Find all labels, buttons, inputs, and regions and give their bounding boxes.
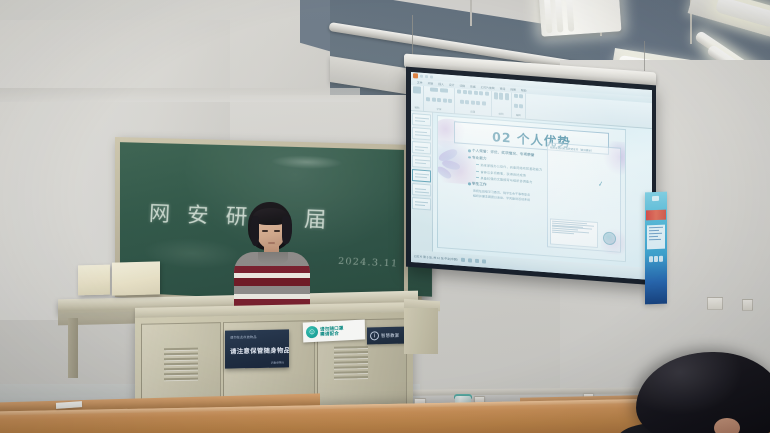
presenter-eye-right xyxy=(274,230,280,232)
slide-thumbnail[interactable] xyxy=(412,127,431,140)
light-tube xyxy=(566,0,575,32)
pipe-hanger xyxy=(470,0,472,26)
ribbon-tab[interactable]: 插入 xyxy=(438,82,444,86)
official-seal-icon xyxy=(603,231,616,245)
slide-thumbnail[interactable] xyxy=(412,197,431,210)
wall-plate xyxy=(742,299,753,311)
poster-logo xyxy=(652,196,659,201)
sweater-stripe xyxy=(234,278,310,286)
dash-marker-icon xyxy=(476,177,479,178)
audience-ear xyxy=(714,418,740,433)
poster-body xyxy=(647,225,665,250)
projector-screen-frame: 文件 开始 插入 设计 切换 动画 幻灯片放映 审阅 视图 帮助 粘贴 xyxy=(406,67,656,286)
screen-hanger-cord xyxy=(644,41,645,71)
presenter-eye-left xyxy=(262,230,268,232)
dash-marker-icon xyxy=(476,164,479,165)
bullet-marker-icon xyxy=(468,156,471,159)
light-tube xyxy=(544,0,553,33)
ribbon-tab[interactable]: 动画 xyxy=(470,84,476,88)
wall-poster xyxy=(645,192,667,305)
presenter-mouth xyxy=(268,242,275,244)
blackboard-date: 2024.3.11 xyxy=(337,257,398,270)
normal-view-icon[interactable] xyxy=(461,258,465,262)
notice-main-text: 请注意保管随身物品 xyxy=(230,345,285,355)
smart-classroom-label: 智慧教室 xyxy=(381,332,399,338)
presenter-collar xyxy=(258,252,288,265)
ribbon-group-editing: 编辑 xyxy=(512,93,527,119)
ribbon-tab[interactable]: 文件 xyxy=(417,80,423,84)
notice-kicker: 请勿在此存放物品 xyxy=(230,334,284,340)
ribbon-tab[interactable]: 设计 xyxy=(449,83,455,87)
poster-icon-row xyxy=(647,252,665,267)
slide-thumbnail[interactable] xyxy=(412,141,431,154)
smart-classroom-sticker: i 智慧教室 xyxy=(367,326,409,344)
slide-thumbnail[interactable] xyxy=(412,183,431,196)
chalk-ledge-leg xyxy=(68,318,78,378)
reading-view-icon[interactable] xyxy=(475,259,479,263)
notice-footer: 后勤保障处 xyxy=(271,360,284,364)
projector-screen-assembly: 文件 开始 插入 设计 切换 动画 幻灯片放映 审阅 视图 帮助 粘贴 xyxy=(398,63,660,303)
slide-canvas: 02 个人优势 个人荣誉：评优、奖项情况、专项荣誉 专业能力 xyxy=(437,115,626,262)
bullet-marker-icon xyxy=(468,150,471,153)
mask-notice-text: 请勿随口罩 需请配合 xyxy=(320,325,344,337)
slide-thumbnail[interactable] xyxy=(412,155,431,168)
ribbon-tab[interactable]: 开始 xyxy=(428,81,434,85)
presenter xyxy=(222,200,322,320)
fluorescent-light-left xyxy=(538,0,621,37)
sweater-stripe xyxy=(234,286,310,294)
powerpoint-logo xyxy=(413,73,418,78)
slide-thumbnail[interactable] xyxy=(412,113,431,126)
projector-screen-surface: 文件 开始 插入 设计 切换 动画 幻灯片放映 审阅 视图 帮助 粘贴 xyxy=(411,72,652,280)
ribbon-group-label: 绘图 xyxy=(499,112,504,116)
checkmark-icon: ✓ xyxy=(597,181,604,189)
sorter-view-icon[interactable] xyxy=(468,258,472,262)
classroom-photo: 网 安 研 会 届 2024.3.11 xyxy=(0,0,770,433)
ribbon-group-font: 字体 xyxy=(424,86,455,113)
ribbon-tab[interactable]: 视图 xyxy=(510,87,516,91)
certificate-thumbnail xyxy=(550,218,598,248)
titlebar-icon[interactable] xyxy=(420,75,423,78)
presenter-hair-side-left xyxy=(250,216,259,246)
box-on-ledge xyxy=(78,265,110,296)
poster-headline xyxy=(646,210,666,221)
titlebar-icon[interactable] xyxy=(430,75,433,78)
ribbon-group-drawing: 绘图 xyxy=(492,91,512,118)
slideshow-icon[interactable] xyxy=(482,259,486,263)
side-cabinet xyxy=(404,308,438,354)
ribbon-tab[interactable]: 审阅 xyxy=(500,87,506,91)
wall-trim xyxy=(0,88,360,102)
info-icon: i xyxy=(370,331,379,340)
podium-notice-sign: 请勿在此存放物品 请注意保管随身物品 后勤保障处 xyxy=(225,329,289,368)
poster-step-icon xyxy=(649,256,653,262)
ribbon-group-paragraph: 段落 xyxy=(455,88,492,116)
slide-bullet-text: 学生工作 xyxy=(472,182,487,188)
ribbon-group-label: 段落 xyxy=(470,109,475,113)
ribbon-tab[interactable]: 切换 xyxy=(459,84,465,88)
wall-plate xyxy=(707,297,723,310)
poster-step-icon xyxy=(659,256,663,262)
titlebar-icon[interactable] xyxy=(425,75,428,78)
ribbon-group-paste: 粘贴 xyxy=(411,85,424,111)
slide-thumbnail-pane[interactable] xyxy=(411,111,433,252)
dash-marker-icon xyxy=(476,171,479,172)
slide-status-text: 幻灯片 第 5 张, 共 12 张 中文(中国) xyxy=(414,254,458,261)
foreground-audience-member xyxy=(636,352,770,433)
slide-evidence-caption: 相关证明材料及获奖证书（部分展示） xyxy=(550,145,618,154)
slide-thumbnail-selected[interactable] xyxy=(412,169,431,182)
light-tube xyxy=(555,0,564,33)
audience-hair xyxy=(636,352,770,433)
sweater-stripe xyxy=(234,266,310,273)
slide-evidence-box: 相关证明材料及获奖证书（部分展示） ✓ xyxy=(547,142,621,253)
mask-icon: ☺ xyxy=(306,326,318,339)
mask-notice-sticker: ☺ 请勿随口罩 需请配合 xyxy=(303,319,366,342)
ribbon-group-label: 编辑 xyxy=(516,113,521,117)
slide-bullet-text: 专业能力 xyxy=(472,155,487,161)
poster-step-icon xyxy=(654,256,658,262)
presenter-hair-side-right xyxy=(282,216,292,244)
mask-notice-line-2: 需请配合 xyxy=(320,331,344,337)
chalk-smudge xyxy=(271,154,343,170)
ribbon-tab[interactable]: 帮助 xyxy=(521,88,527,92)
ribbon-group-label: 字体 xyxy=(437,107,442,111)
box-on-ledge xyxy=(112,261,160,295)
ribbon-group-label: 粘贴 xyxy=(415,105,420,109)
bullet-marker-icon xyxy=(468,183,471,186)
